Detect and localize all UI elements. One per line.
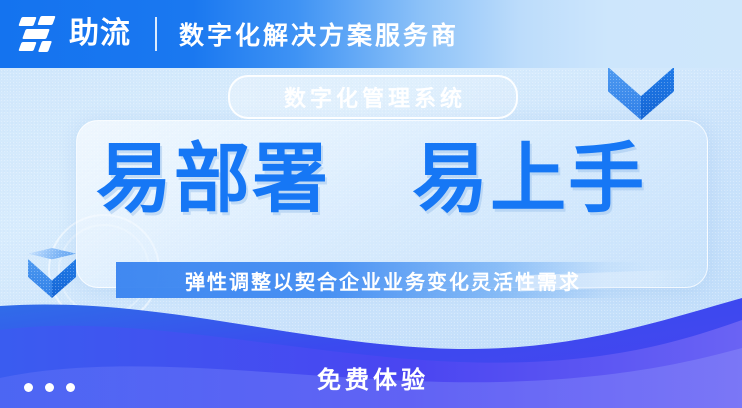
header-tagline: 数字化解决方案服务商 (179, 16, 459, 52)
carousel-indicators[interactable] (24, 383, 75, 392)
status-badge: 数字化管理系统 (228, 75, 518, 119)
carousel-dot[interactable] (45, 383, 54, 392)
carousel-dot[interactable] (66, 383, 75, 392)
cta-free-trial[interactable]: 免费体验 (0, 360, 742, 395)
headline-part-1: 易部署 (96, 137, 330, 222)
header-divider (155, 17, 157, 51)
header-bar: 助流 数字化解决方案服务商 (0, 0, 742, 68)
status-badge-label: 数字化管理系统 (280, 81, 466, 113)
brand-name: 助流 (69, 19, 131, 49)
page-title: 易部署 易上手 (0, 142, 742, 218)
headline-part-2: 易上手 (412, 137, 646, 222)
carousel-dot[interactable] (24, 383, 33, 392)
promo-banner: 助流 数字化解决方案服务商 数字化管理系统 易部署 易上手 弹性调整以契合企业业… (0, 0, 742, 408)
lightning-bolt-logo-icon (18, 15, 60, 53)
